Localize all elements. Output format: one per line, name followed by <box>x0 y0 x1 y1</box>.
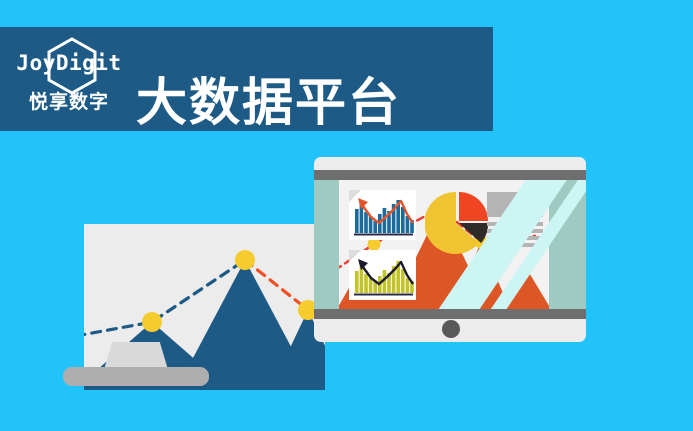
data-node <box>235 250 255 270</box>
poster-canvas: JoyDigit 悦享数字 大数据平台 <box>0 0 693 431</box>
monitor-screen <box>314 180 586 309</box>
page-title: 大数据平台 <box>136 77 401 128</box>
blue-bar-chart <box>349 190 416 240</box>
trend-line <box>360 201 413 223</box>
logo-wordmark: JoyDigit <box>14 53 124 74</box>
header-banner: JoyDigit 悦享数字 大数据平台 <box>0 27 493 131</box>
camera-dot-icon <box>442 320 460 338</box>
yellow-bar-chart <box>349 250 416 300</box>
data-node <box>142 312 162 332</box>
chart-axis <box>354 294 413 296</box>
monitor-bottom-bezel <box>314 309 586 319</box>
logo-chinese-name: 悦享数字 <box>14 93 124 112</box>
monitor-top-bezel <box>314 170 586 180</box>
pie-slice-red <box>459 192 488 221</box>
chart-axis <box>354 234 413 236</box>
bar-chart-yellow-card <box>349 250 416 300</box>
brand-logo: JoyDigit 悦享数字 <box>14 35 124 123</box>
monitor-stand-base <box>63 367 209 386</box>
desktop-monitor <box>314 157 586 342</box>
trend-line <box>360 262 413 284</box>
bar-chart-blue-card <box>349 190 416 240</box>
